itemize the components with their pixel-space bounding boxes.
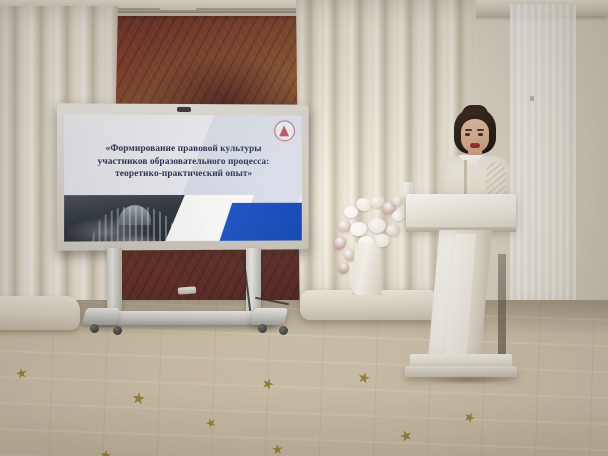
display-screen[interactable]: «Формирование правовой культуры участник… (58, 104, 310, 250)
camera-icon (177, 107, 191, 112)
curtain-rod (118, 10, 308, 13)
caster-wheel (113, 326, 122, 335)
eye-left (465, 133, 470, 136)
stand-foot-right (250, 308, 288, 325)
eyebrow-left (465, 129, 472, 131)
display-bezel: «Формирование правовой культуры участник… (57, 103, 309, 250)
lectern-rear-leg (498, 254, 506, 358)
lectern (402, 194, 520, 384)
triangle-emblem-icon (274, 120, 295, 141)
slide-title-line-2: участников образовательного процесса: (73, 155, 293, 168)
slide-title-line-3: теоретико-практический опыт» (73, 168, 293, 181)
lectern-shadow (402, 374, 532, 386)
presentation-photo-scene: «Формирование правовой культуры участник… (0, 0, 608, 456)
lips (470, 143, 480, 148)
wall-fixture-icon (530, 96, 534, 101)
slide-footer-band (64, 195, 302, 242)
slide-blue-wedge (219, 203, 302, 242)
stand-crossbar (96, 311, 277, 325)
caster-wheel (279, 326, 288, 335)
slide-title-line-1: «Формирование правовой культуры (73, 143, 293, 156)
eye-right (478, 133, 483, 136)
slide-title: «Формирование правовой культуры участник… (73, 143, 293, 181)
flower-vase (352, 243, 382, 295)
slide-canvas: «Формирование правовой культуры участник… (64, 114, 302, 241)
caster-wheel (90, 324, 99, 333)
lectern-top-panel (406, 194, 516, 230)
remote-control[interactable] (178, 286, 196, 294)
caster-wheel (258, 324, 267, 333)
stage-edge-left (0, 296, 80, 330)
stand-foot-left (82, 308, 120, 325)
flower-bloom (344, 206, 358, 218)
eyebrow-right (477, 129, 484, 131)
building-dome (119, 205, 151, 225)
